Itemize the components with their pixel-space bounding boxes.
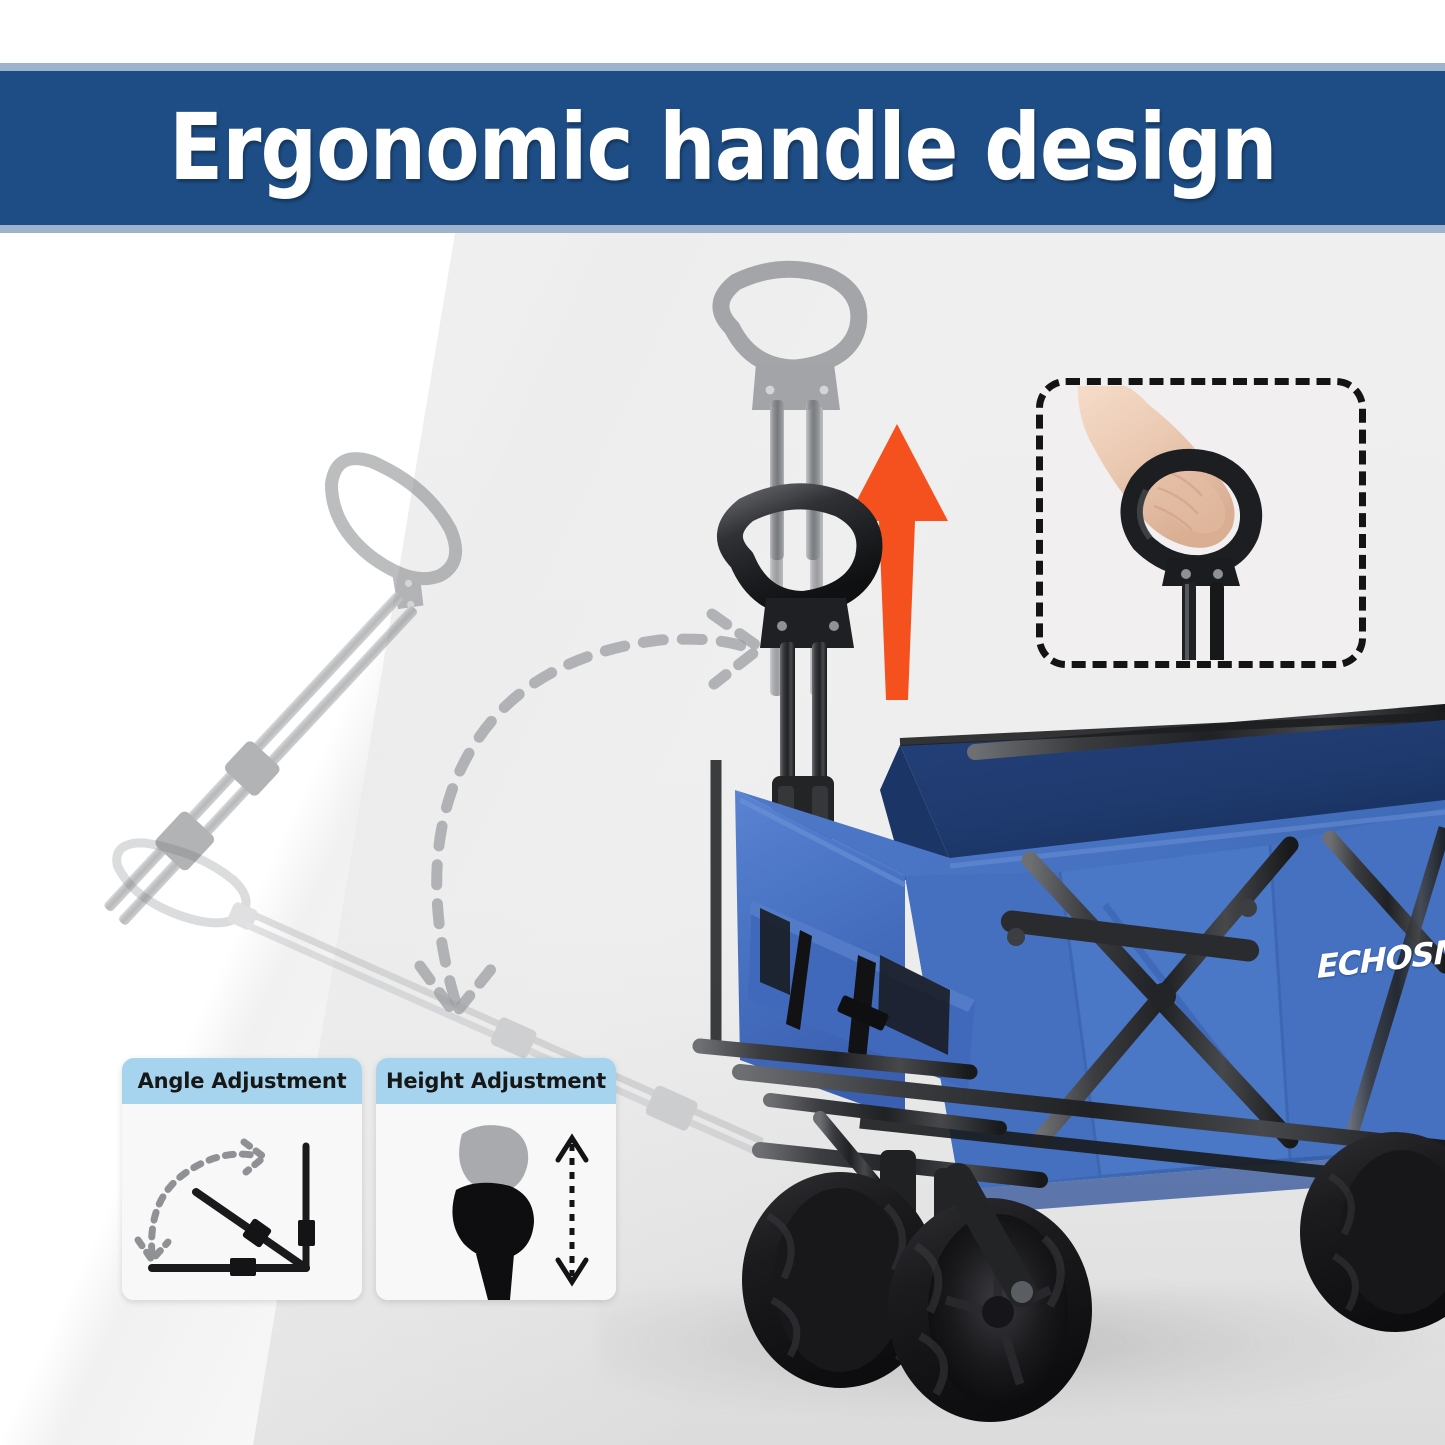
card-angle-body	[122, 1104, 362, 1300]
card-angle-header: Angle Adjustment	[122, 1058, 362, 1104]
card-height-header: Height Adjustment	[376, 1058, 616, 1104]
ghost-handle-mid-angle	[10, 439, 485, 931]
product-feature-image: Ergonomic handle design	[0, 0, 1445, 1445]
card-height-body	[376, 1104, 616, 1300]
feature-cards: Angle Adjustment	[122, 1058, 616, 1300]
handle-rotation-arc	[420, 614, 760, 1014]
card-angle-title: Angle Adjustment	[138, 1069, 347, 1093]
angle-pivot-diagram	[122, 1104, 362, 1300]
inset-dashed-border	[1036, 378, 1366, 668]
hand-grip-detail-inset	[1036, 378, 1366, 668]
telescoping-handle-diagram	[376, 1104, 616, 1300]
card-height-title: Height Adjustment	[386, 1069, 606, 1093]
card-height-adjustment: Height Adjustment	[376, 1058, 616, 1300]
card-angle-adjustment: Angle Adjustment	[122, 1058, 362, 1300]
